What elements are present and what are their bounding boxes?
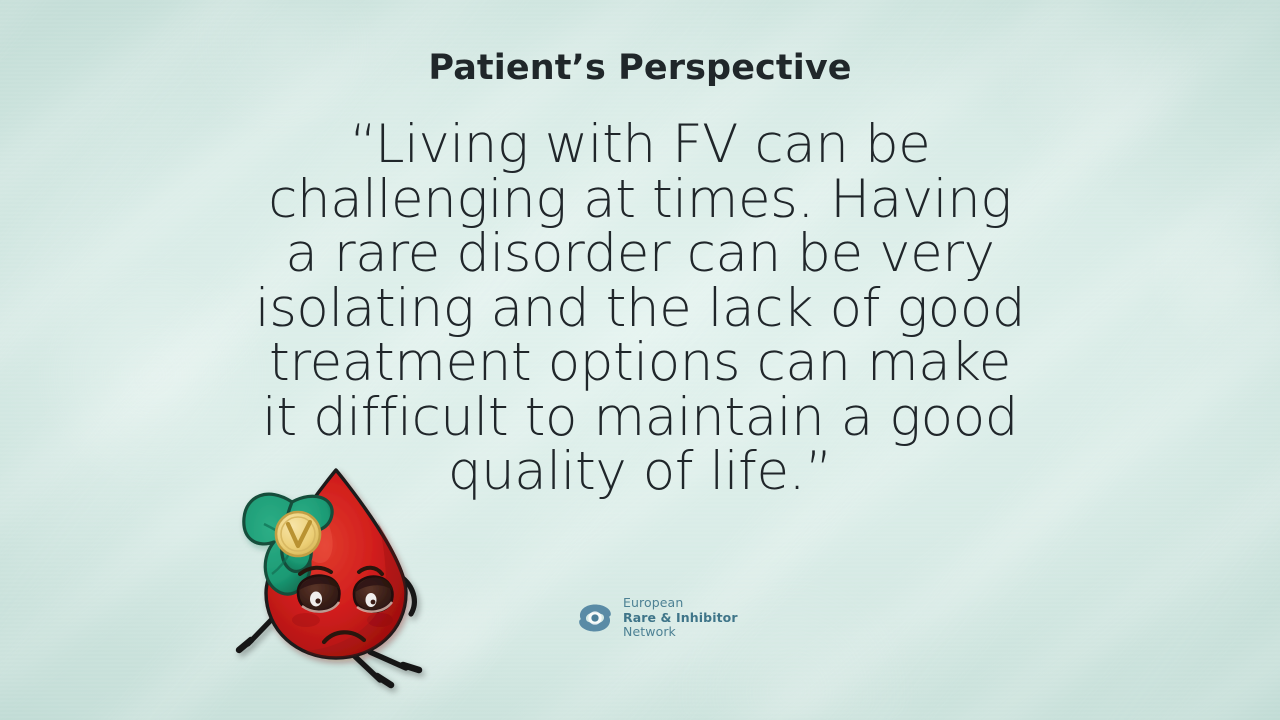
page-title: Patient’s Perspective: [0, 48, 1280, 88]
erin-logo-mark: [576, 599, 614, 637]
erin-logo[interactable]: European Rare & Inhibitor Network: [576, 596, 738, 640]
mascot-figure: [239, 470, 419, 685]
mascot-medallion: [276, 512, 320, 556]
blood-drop-mascot: [228, 462, 448, 702]
logo-line-network: Network: [623, 625, 738, 640]
slide-root: Patient’s Perspective “Living with FV ca…: [0, 0, 1280, 720]
mascot-blush-right: [367, 613, 393, 627]
patient-quote: “Living with FV can be challenging at ti…: [250, 118, 1030, 500]
logo-line-european: European: [623, 596, 738, 611]
erin-logo-text: European Rare & Inhibitor Network: [623, 596, 738, 640]
logo-line-rare-inhibitor: Rare & Inhibitor: [623, 611, 738, 626]
mascot-blush-left: [292, 613, 320, 627]
